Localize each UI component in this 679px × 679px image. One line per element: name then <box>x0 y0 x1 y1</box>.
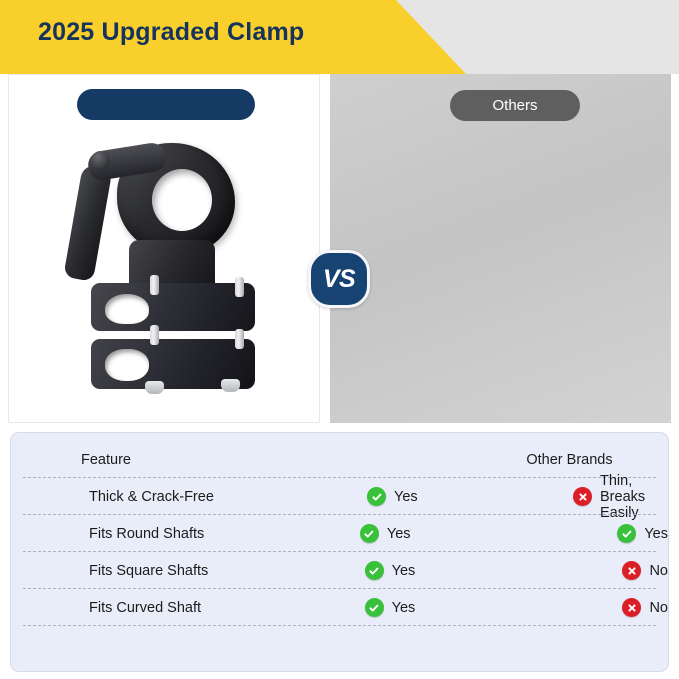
table-row: Fits Curved Shaft Yes No <box>11 589 668 626</box>
others-clamp-bar <box>496 137 604 185</box>
row-others-cell: No <box>550 598 668 617</box>
badge-others: Others <box>450 90 580 121</box>
column-header-feature: Feature <box>11 452 293 468</box>
product-comparison-infographic: 2025 Upgraded Clamp Others <box>0 0 679 679</box>
vs-badge: VS <box>308 250 370 308</box>
row-feature-label: Fits Square Shafts <box>11 563 291 579</box>
others-screw <box>628 322 639 350</box>
cross-icon <box>622 598 641 617</box>
check-icon <box>360 524 379 543</box>
others-clamp-jaw-gap <box>566 200 618 252</box>
others-clamp-lever-arm <box>427 169 500 329</box>
table-row: Thick & Crack-Free Yes Thin, Breaks Easi… <box>11 478 668 515</box>
header-bar: 2025 Upgraded Clamp <box>0 0 679 74</box>
ours-clamp-lever-arm <box>63 163 113 281</box>
ours-bolt <box>235 329 244 349</box>
row-others-text: Yes <box>644 526 668 542</box>
row-feature-label: Thick & Crack-Free <box>11 489 293 505</box>
panel-others: Others <box>330 74 671 423</box>
others-clamp-jaw <box>536 162 646 270</box>
ours-bolt <box>235 277 244 297</box>
row-divider <box>23 625 656 626</box>
cross-icon <box>622 561 641 580</box>
ours-bolt <box>150 275 159 295</box>
table-row: Fits Round Shafts Yes Yes <box>11 515 668 552</box>
others-clamp-broken-piece <box>408 352 470 404</box>
row-ours-text: Yes <box>394 489 418 505</box>
ours-clamp-lower-bracket-hole <box>105 349 149 381</box>
others-bolt-foot <box>598 378 618 392</box>
page-title: 2025 Upgraded Clamp <box>38 18 304 47</box>
others-clamp-lever-nut <box>444 152 463 171</box>
comparison-panels: Others VS <box>0 74 679 423</box>
ours-bolt <box>150 325 159 345</box>
others-screw <box>552 324 563 352</box>
row-others-cell: Yes <box>541 524 668 543</box>
check-icon <box>617 524 636 543</box>
panel-ours <box>8 74 320 423</box>
ours-bolt-foot <box>221 379 240 392</box>
row-ours-cell: Yes <box>291 598 551 617</box>
column-header-other-brands: Other Brands <box>481 452 668 468</box>
others-clamp-jaw-ribs <box>554 178 630 254</box>
row-others-cell: No <box>550 561 668 580</box>
check-icon <box>365 561 384 580</box>
row-ours-text: Yes <box>387 526 411 542</box>
vs-label: VS <box>323 265 355 294</box>
ours-clamp-lever-nut <box>91 151 110 170</box>
cross-icon <box>573 487 592 506</box>
others-clamp-lever-pivot <box>439 144 516 182</box>
others-clamp-base-lip <box>508 372 668 389</box>
row-feature-label: Fits Round Shafts <box>11 526 286 542</box>
others-bolt-foot <box>520 380 540 394</box>
row-ours-text: Yes <box>392 600 416 616</box>
check-icon <box>367 487 386 506</box>
row-ours-cell: Yes <box>286 524 541 543</box>
check-icon <box>365 598 384 617</box>
ours-bolt-foot <box>145 381 164 394</box>
others-clamp-base-hole <box>522 342 564 384</box>
row-ours-cell: Yes <box>291 561 551 580</box>
row-others-text: No <box>649 563 668 579</box>
ours-clamp-ring-hole <box>152 169 212 231</box>
row-ours-cell: Yes <box>293 487 555 506</box>
ours-clamp-upper-bracket-hole <box>105 294 149 324</box>
badge-ours <box>77 89 255 120</box>
column-header-other-brands-label: Other Brands <box>485 452 668 468</box>
table-row: Fits Square Shafts Yes No <box>11 552 668 589</box>
row-feature-label: Fits Curved Shaft <box>11 600 291 616</box>
others-clamp-base <box>508 329 668 383</box>
others-clamp-body <box>542 249 636 349</box>
comparison-table: Feature Other Brands Thick & Crack-Free … <box>10 432 669 672</box>
row-ours-text: Yes <box>392 563 416 579</box>
row-others-text: No <box>649 600 668 616</box>
